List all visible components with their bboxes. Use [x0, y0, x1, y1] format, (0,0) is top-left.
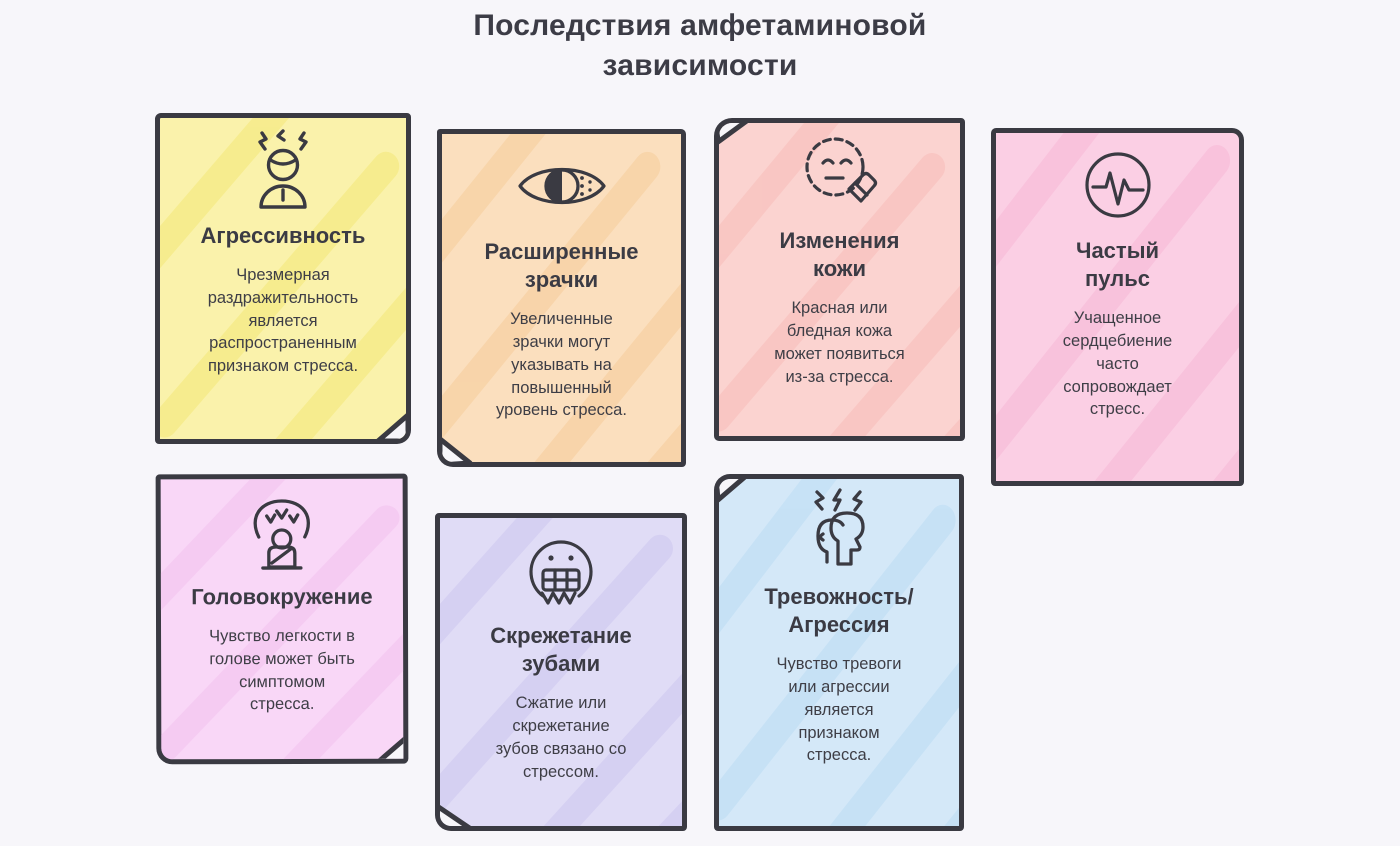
card-description: Чувство легкости в голове может быть сим…	[209, 625, 355, 716]
card-description: Увеличенные зрачки могут указывать на по…	[496, 308, 627, 422]
card-aggression[interactable]: Агрессивность Чрезмерная раздражительнос…	[155, 113, 411, 444]
card-anxiety-aggression[interactable]: Тревожность/ Агрессия Чувство тревоги ил…	[714, 474, 964, 831]
card-description: Учащенное сердцебиение часто сопровождае…	[1063, 307, 1172, 421]
face-brush-icon	[797, 125, 883, 225]
pulse-circle-icon	[1079, 135, 1157, 235]
card-title: Расширенные зрачки	[485, 238, 639, 294]
card-skin-changes[interactable]: Изменения кожи Красная или бледная кожа …	[714, 118, 965, 441]
grinding-teeth-icon	[521, 520, 601, 620]
dilated-eye-icon	[516, 136, 608, 236]
dizzy-person-icon	[239, 481, 325, 581]
card-description: Чувство тревоги или агрессии является пр…	[777, 653, 902, 767]
card-description: Красная или бледная кожа может появиться…	[774, 297, 905, 388]
two-heads-lightning-icon	[793, 481, 885, 581]
card-title: Агрессивность	[201, 222, 366, 250]
card-title: Изменения кожи	[780, 227, 900, 283]
card-title: Скрежетание зубами	[490, 622, 632, 678]
card-description: Чрезмерная раздражительность является ра…	[208, 264, 359, 378]
card-dilated-pupils[interactable]: Расширенные зрачки Увеличенные зрачки мо…	[437, 129, 686, 467]
page-title: Последствия амфетаминовой зависимости	[0, 6, 1400, 85]
card-rapid-pulse[interactable]: Частый пульс Учащенное сердцебиение част…	[991, 128, 1244, 486]
card-dizziness[interactable]: Головокружение Чувство легкости в голове…	[156, 474, 409, 765]
card-title: Частый пульс	[1076, 237, 1159, 293]
card-title: Тревожность/ Агрессия	[764, 583, 913, 639]
card-teeth-grinding[interactable]: Скрежетание зубами Сжатие или скрежетани…	[435, 513, 687, 831]
card-description: Сжатие или скрежетание зубов связано со …	[496, 692, 627, 783]
card-title: Головокружение	[191, 583, 372, 612]
angry-person-icon	[244, 120, 322, 220]
infographic-page: Последствия амфетаминовой зависимости	[0, 0, 1400, 846]
